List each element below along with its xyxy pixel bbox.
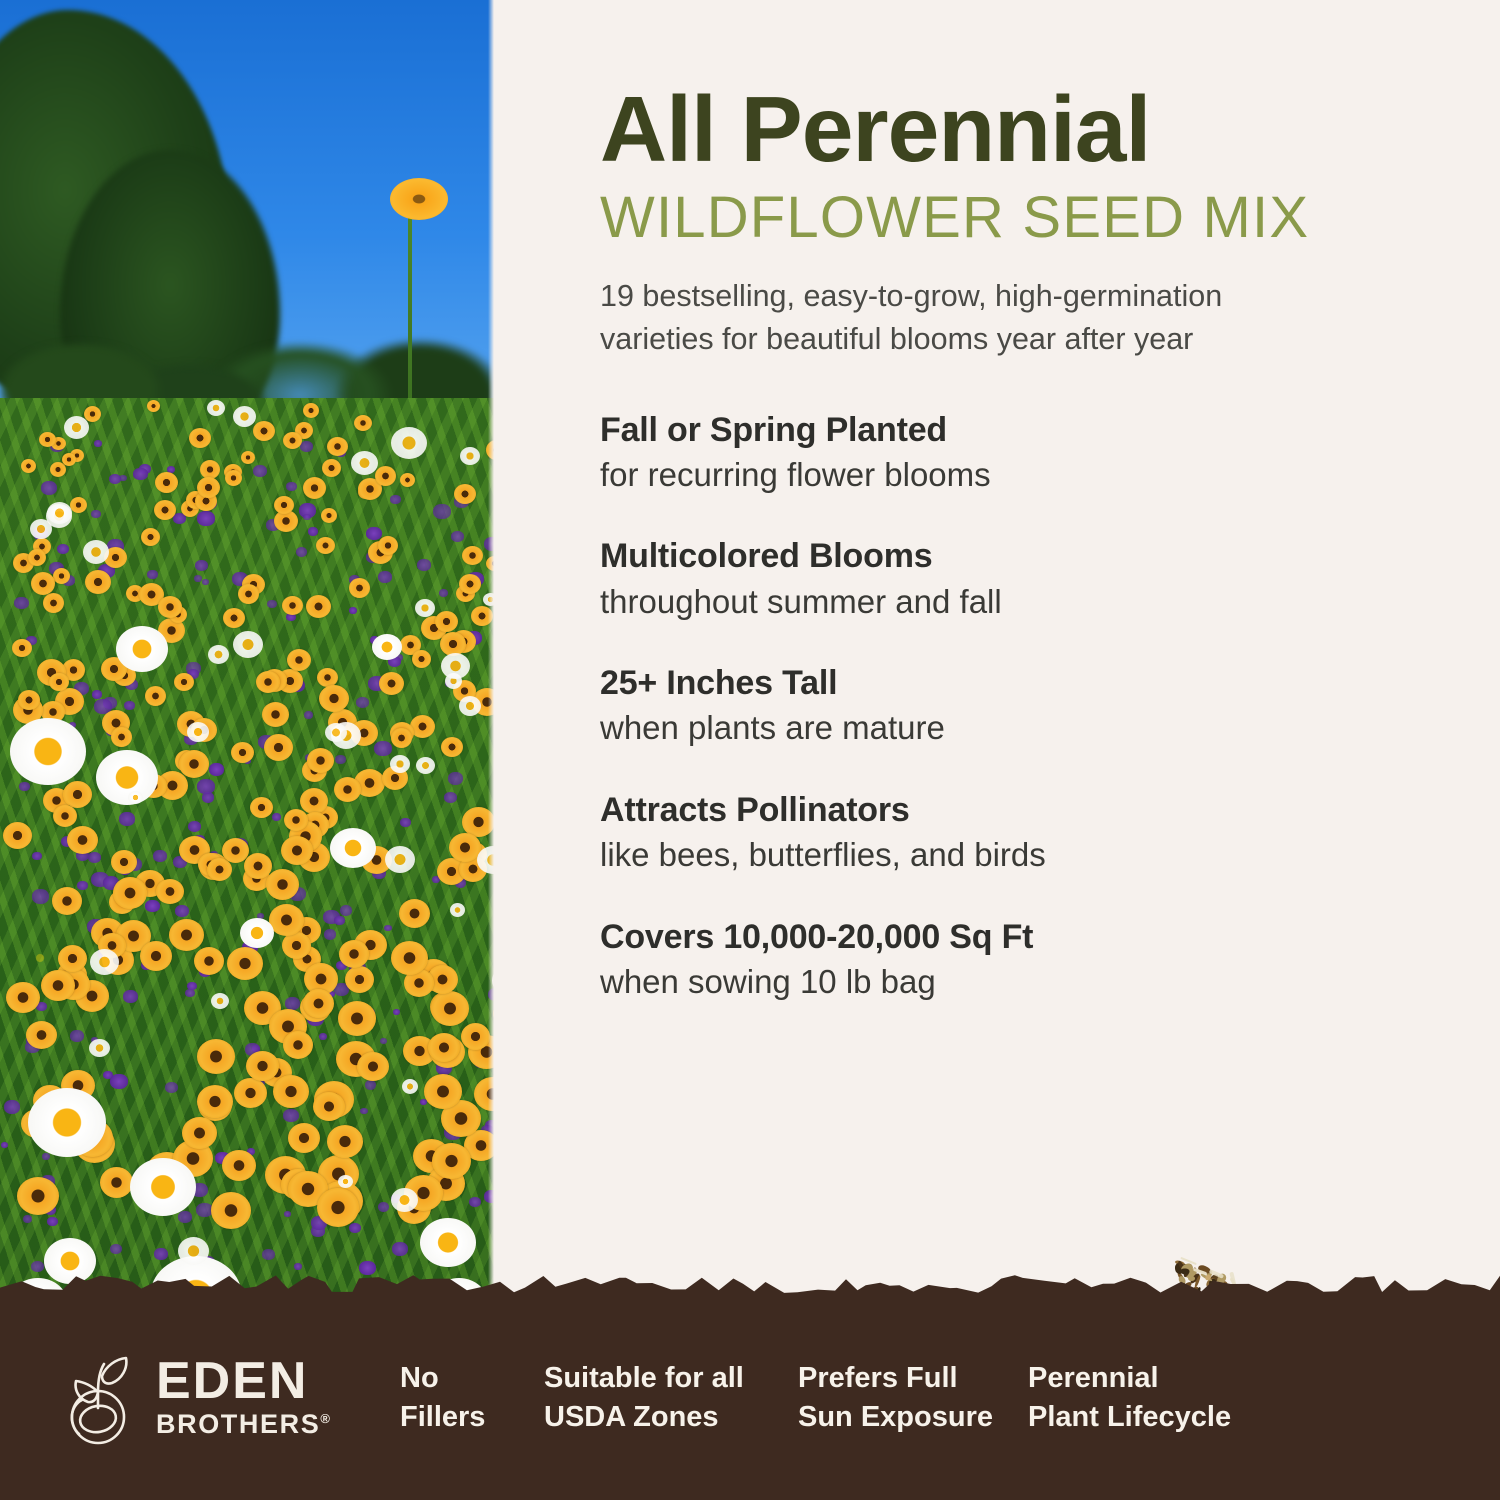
- badge-line-2: Fillers: [400, 1398, 544, 1437]
- orange-flower: [85, 570, 111, 594]
- purple-flower: [349, 607, 357, 614]
- purple-flower: [356, 697, 369, 708]
- purple-flower: [319, 1033, 327, 1040]
- white-daisy: [460, 447, 480, 465]
- orange-flower: [241, 451, 255, 464]
- seed-bristle: [1180, 1257, 1197, 1265]
- orange-flower: [145, 686, 166, 706]
- feature-detail: for recurring flower blooms: [600, 455, 1430, 495]
- description-line-2: varieties for beautiful blooms year afte…: [600, 322, 1193, 356]
- orange-flower: [441, 737, 463, 757]
- purple-flower: [42, 1153, 50, 1160]
- orange-flower: [12, 639, 32, 657]
- orange-flower: [53, 568, 70, 584]
- feature-heading: Fall or Spring Planted: [600, 410, 1430, 450]
- orange-flower: [400, 473, 415, 487]
- purple-flower: [165, 1082, 178, 1093]
- purple-flower: [188, 821, 201, 832]
- orange-flower: [84, 406, 101, 422]
- purple-flower: [147, 570, 158, 579]
- white-daisy: [30, 519, 52, 539]
- purple-flower: [91, 510, 101, 518]
- orange-flower: [155, 472, 178, 493]
- trademark-symbol: ®: [320, 1411, 331, 1426]
- orange-flower: [283, 432, 302, 449]
- white-daisy: [391, 1188, 418, 1212]
- orange-flower: [225, 470, 242, 486]
- white-daisy: [90, 949, 119, 975]
- tall-orange-flower: [390, 178, 448, 220]
- feature-heading: Covers 10,000-20,000 Sq Ft: [600, 917, 1430, 957]
- orange-flower: [231, 742, 254, 763]
- purple-flower: [349, 1223, 361, 1233]
- footer-bar: EDEN BROTHERS® No Fillers Suitable for a…: [0, 1295, 1500, 1500]
- white-daisy: [450, 903, 465, 917]
- orange-flower: [319, 685, 349, 712]
- white-daisy: [128, 791, 143, 804]
- orange-flower: [197, 1085, 233, 1118]
- purple-flower: [253, 465, 267, 477]
- orange-flower: [303, 477, 326, 499]
- orange-flower: [111, 850, 137, 874]
- white-daisy: [325, 723, 347, 742]
- white-daisy: [459, 696, 481, 716]
- purple-flower: [133, 468, 148, 480]
- orange-flower: [412, 650, 431, 668]
- orange-flower: [63, 781, 92, 808]
- purple-flower: [392, 1242, 408, 1256]
- purple-flower: [378, 571, 392, 583]
- orange-flower: [26, 1021, 57, 1049]
- feature-heading: 25+ Inches Tall: [600, 663, 1430, 703]
- purple-flower: [469, 1197, 481, 1207]
- feature-item: Attracts Pollinators like bees, butterfl…: [600, 790, 1430, 875]
- purple-flower: [178, 1211, 192, 1223]
- white-daisy: [47, 502, 72, 524]
- product-infographic: All Perennial WILDFLOWER SEED MIX 19 bes…: [0, 0, 1500, 1500]
- orange-flower: [399, 899, 430, 928]
- purple-flower: [300, 441, 313, 452]
- purple-flower: [47, 1217, 58, 1226]
- orange-flower: [3, 822, 32, 849]
- white-daisy: [416, 757, 435, 774]
- brand-name-secondary-text: BROTHERS: [156, 1409, 320, 1439]
- purple-flower: [209, 763, 224, 776]
- orange-flower: [354, 415, 372, 431]
- product-description: 19 bestselling, easy-to-grow, high-germi…: [600, 275, 1370, 362]
- orange-flower: [269, 904, 304, 936]
- orange-flower: [306, 595, 331, 618]
- purple-flower: [448, 772, 463, 785]
- orange-flower: [234, 1078, 267, 1108]
- white-daisy: [116, 626, 168, 672]
- orange-flower: [287, 649, 311, 671]
- orange-flower: [6, 982, 40, 1013]
- sprout-seed-icon: [52, 1346, 144, 1450]
- purple-flower: [23, 1215, 32, 1223]
- wildflower-meadow-photo: [0, 0, 494, 1340]
- white-daisy: [64, 416, 89, 439]
- purple-flower: [77, 881, 88, 890]
- purple-flower: [32, 889, 49, 904]
- purple-flower: [365, 1080, 376, 1090]
- purple-flower: [195, 560, 208, 571]
- orange-flower: [454, 484, 476, 504]
- purple-flower: [374, 741, 392, 756]
- page-subtitle: WILDFLOWER SEED MIX: [600, 188, 1430, 249]
- orange-flower: [227, 947, 263, 980]
- white-daisy: [211, 993, 229, 1009]
- orange-flower: [253, 421, 275, 441]
- white-daisy: [385, 846, 415, 873]
- orange-flower: [391, 728, 412, 748]
- badge-line-1: Perennial: [1028, 1359, 1288, 1398]
- purple-flower: [154, 1248, 168, 1260]
- orange-flower: [238, 584, 259, 604]
- purple-flower: [110, 1074, 128, 1089]
- white-daisy: [441, 653, 470, 679]
- orange-flower: [391, 941, 428, 975]
- white-daisy: [372, 634, 402, 660]
- orange-flower: [432, 1143, 471, 1179]
- tall-flower-stem: [408, 196, 412, 411]
- seed: [1175, 1260, 1186, 1267]
- white-daisy: [96, 750, 158, 805]
- feature-detail: throughout summer and fall: [600, 582, 1430, 622]
- orange-flower: [17, 1177, 59, 1215]
- orange-flower: [338, 1001, 376, 1036]
- orange-flower: [303, 989, 334, 1018]
- orange-flower: [313, 1092, 345, 1121]
- feature-item: 25+ Inches Tall when plants are mature: [600, 663, 1430, 748]
- orange-flower: [274, 496, 294, 514]
- purple-flower: [433, 504, 451, 519]
- orange-flower: [264, 734, 293, 761]
- orange-flower: [300, 788, 328, 814]
- white-daisy: [233, 631, 263, 658]
- white-daisy: [391, 427, 427, 459]
- white-daisy: [420, 1218, 476, 1267]
- orange-flower: [317, 1188, 359, 1227]
- orange-flower: [189, 428, 211, 448]
- orange-flower: [321, 508, 337, 523]
- feature-item: Multicolored Blooms throughout summer an…: [600, 536, 1430, 621]
- white-daisy: [390, 755, 410, 773]
- orange-flower: [244, 853, 272, 879]
- orange-flower: [67, 826, 98, 854]
- orange-flower: [18, 690, 40, 710]
- purple-flower: [393, 1009, 400, 1015]
- feature-item: Fall or Spring Planted for recurring flo…: [600, 410, 1430, 495]
- purple-flower: [124, 701, 135, 710]
- orange-flower: [282, 932, 311, 959]
- orange-flower: [53, 805, 77, 827]
- purple-flower: [283, 1109, 299, 1122]
- orange-flower: [378, 536, 398, 555]
- white-daisy: [240, 918, 274, 948]
- purple-flower: [88, 852, 101, 863]
- white-daisy: [330, 828, 376, 868]
- badge-line-1: No: [400, 1359, 544, 1398]
- purple-flower: [400, 818, 411, 827]
- purple-flower: [1, 1142, 8, 1148]
- white-daisy: [351, 451, 378, 475]
- orange-flower: [316, 537, 335, 554]
- orange-flower: [284, 809, 308, 831]
- orange-flower: [179, 750, 209, 778]
- purple-flower: [197, 779, 215, 794]
- purple-flower: [296, 547, 307, 557]
- purple-flower: [384, 925, 392, 931]
- feature-detail: like bees, butterflies, and birds: [600, 835, 1430, 875]
- orange-flower: [70, 497, 87, 513]
- purple-flower: [308, 527, 318, 536]
- purple-flower: [92, 690, 102, 699]
- orange-flower: [169, 919, 204, 951]
- purple-flower: [390, 495, 401, 504]
- content-panel: All Perennial WILDFLOWER SEED MIX 19 bes…: [600, 0, 1430, 1043]
- orange-flower: [262, 702, 289, 727]
- orange-flower: [349, 578, 370, 598]
- brand-name-secondary: BROTHERS®: [156, 1410, 332, 1440]
- purple-flower: [153, 850, 167, 862]
- white-daisy: [178, 1237, 209, 1265]
- orange-flower: [345, 966, 374, 993]
- orange-flower: [21, 459, 36, 473]
- orange-flower: [158, 596, 182, 618]
- feature-detail: when plants are mature: [600, 708, 1430, 748]
- purple-flower: [286, 482, 297, 491]
- white-daisy: [402, 1079, 418, 1094]
- orange-flower: [194, 947, 224, 975]
- orange-flower: [141, 528, 160, 546]
- orange-flower: [339, 940, 369, 968]
- purple-flower: [119, 812, 135, 826]
- badge-line-2: Plant Lifecycle: [1028, 1398, 1288, 1437]
- orange-flower: [428, 1033, 460, 1062]
- orange-flower: [273, 1075, 309, 1108]
- white-daisy: [130, 1158, 196, 1216]
- orange-flower: [250, 797, 273, 818]
- orange-flower: [379, 672, 404, 695]
- page-title: All Perennial: [600, 84, 1430, 174]
- badge-line-1: Prefers Full: [798, 1359, 1028, 1398]
- white-daisy: [415, 599, 435, 617]
- purple-flower: [378, 1202, 389, 1212]
- feature-heading: Multicolored Blooms: [600, 536, 1430, 576]
- orange-flower: [266, 869, 299, 900]
- orange-flower: [211, 1192, 251, 1229]
- purple-flower: [267, 600, 277, 608]
- footer-badges: No Fillers Suitable for all USDA Zones P…: [400, 1359, 1288, 1436]
- purple-flower: [32, 852, 42, 860]
- orange-flower: [39, 432, 56, 447]
- orange-flower: [246, 1051, 279, 1081]
- orange-flower: [100, 1167, 133, 1198]
- purple-flower: [439, 589, 448, 597]
- orange-flower: [182, 1117, 217, 1149]
- purple-flower: [451, 531, 464, 542]
- orange-flower: [462, 546, 483, 565]
- purple-flower: [284, 1211, 291, 1217]
- purple-flower: [4, 1100, 20, 1114]
- purple-flower: [444, 792, 457, 803]
- orange-flower: [281, 836, 313, 865]
- purple-flower: [197, 511, 215, 526]
- orange-flower: [43, 593, 64, 613]
- orange-flower: [424, 1074, 462, 1109]
- white-daisy: [83, 540, 109, 564]
- orange-flower: [174, 673, 194, 691]
- purple-flower: [41, 481, 57, 495]
- purple-flower: [366, 527, 382, 540]
- orange-flower: [156, 879, 184, 904]
- feature-item: Covers 10,000-20,000 Sq Ft when sowing 1…: [600, 917, 1430, 1002]
- description-line-1: 19 bestselling, easy-to-grow, high-germi…: [600, 279, 1222, 313]
- photo-right-fade: [488, 0, 494, 1340]
- orange-flower: [223, 608, 245, 628]
- orange-flower: [154, 500, 176, 520]
- purple-flower: [340, 905, 352, 916]
- badge-line-1: Suitable for all: [544, 1359, 798, 1398]
- white-daisy: [338, 1175, 353, 1188]
- brand-wordmark: EDEN BROTHERS®: [156, 1356, 332, 1440]
- brand-logo[interactable]: EDEN BROTHERS®: [52, 1346, 352, 1450]
- footer-content: EDEN BROTHERS® No Fillers Suitable for a…: [0, 1295, 1500, 1500]
- purple-flower: [360, 1108, 368, 1114]
- orange-flower: [49, 673, 69, 691]
- orange-flower: [327, 1125, 363, 1158]
- orange-flower: [357, 1052, 389, 1081]
- white-daisy: [207, 400, 225, 416]
- orange-flower: [28, 549, 46, 566]
- orange-flower: [62, 453, 76, 466]
- purple-flower: [304, 711, 313, 719]
- purple-flower: [303, 514, 311, 520]
- orange-flower: [41, 970, 75, 1001]
- purple-flower: [109, 474, 121, 484]
- purple-flower: [110, 1244, 122, 1254]
- white-daisy: [89, 1039, 110, 1057]
- meadow-flowers: [0, 398, 494, 1340]
- orange-flower: [113, 877, 147, 909]
- orange-flower: [288, 1123, 320, 1153]
- purple-flower: [380, 1038, 387, 1044]
- purple-flower: [187, 982, 197, 990]
- orange-flower: [334, 777, 361, 802]
- feature-list: Fall or Spring Planted for recurring flo…: [600, 410, 1430, 1002]
- badge-plant-lifecycle: Perennial Plant Lifecycle: [1028, 1359, 1288, 1436]
- white-daisy: [233, 406, 256, 427]
- orange-flower: [282, 596, 303, 615]
- orange-flower: [256, 671, 280, 693]
- purple-flower: [94, 440, 102, 447]
- white-daisy: [28, 1088, 106, 1157]
- orange-flower: [375, 466, 396, 486]
- orange-flower: [52, 887, 82, 915]
- orange-flower: [58, 945, 87, 972]
- purple-flower: [262, 1249, 275, 1260]
- purple-flower: [272, 813, 281, 821]
- badge-usda-zones: Suitable for all USDA Zones: [544, 1359, 798, 1436]
- purple-flower: [194, 575, 202, 582]
- white-daisy: [10, 718, 86, 785]
- white-daisy: [187, 722, 209, 742]
- purple-flower: [57, 544, 69, 554]
- purple-flower: [70, 1030, 84, 1042]
- orange-flower: [140, 941, 172, 971]
- purple-flower: [123, 990, 138, 1003]
- purple-flower: [175, 905, 189, 917]
- purple-flower: [335, 755, 346, 764]
- badge-line-2: Sun Exposure: [798, 1398, 1028, 1437]
- orange-flower: [307, 748, 334, 773]
- orange-flower: [431, 991, 469, 1026]
- brand-name-primary: EDEN: [156, 1356, 332, 1407]
- orange-flower: [303, 403, 319, 418]
- orange-flower: [147, 400, 160, 412]
- orange-flower: [197, 477, 220, 498]
- orange-flower: [459, 574, 481, 594]
- purple-flower: [19, 782, 30, 791]
- purple-flower: [202, 579, 209, 585]
- white-daisy: [208, 645, 229, 664]
- purple-flower: [185, 989, 195, 997]
- orange-flower: [197, 1039, 235, 1074]
- badge-no-fillers: No Fillers: [400, 1359, 544, 1436]
- orange-flower: [322, 459, 341, 477]
- orange-flower: [31, 572, 55, 595]
- feature-heading: Attracts Pollinators: [600, 790, 1430, 830]
- feature-detail: when sowing 10 lb bag: [600, 962, 1430, 1002]
- badge-line-2: USDA Zones: [544, 1398, 798, 1437]
- purple-flower: [324, 929, 336, 940]
- orange-flower: [461, 1023, 490, 1050]
- orange-flower: [435, 611, 458, 632]
- orange-flower: [283, 1031, 313, 1059]
- orange-flower: [222, 1150, 256, 1181]
- purple-flower: [145, 900, 160, 912]
- purple-flower: [334, 916, 345, 925]
- orange-flower: [111, 727, 132, 747]
- badge-sun-exposure: Prefers Full Sun Exposure: [798, 1359, 1028, 1436]
- purple-flower: [417, 559, 431, 571]
- orange-flower: [327, 437, 348, 456]
- purple-flower: [14, 597, 29, 609]
